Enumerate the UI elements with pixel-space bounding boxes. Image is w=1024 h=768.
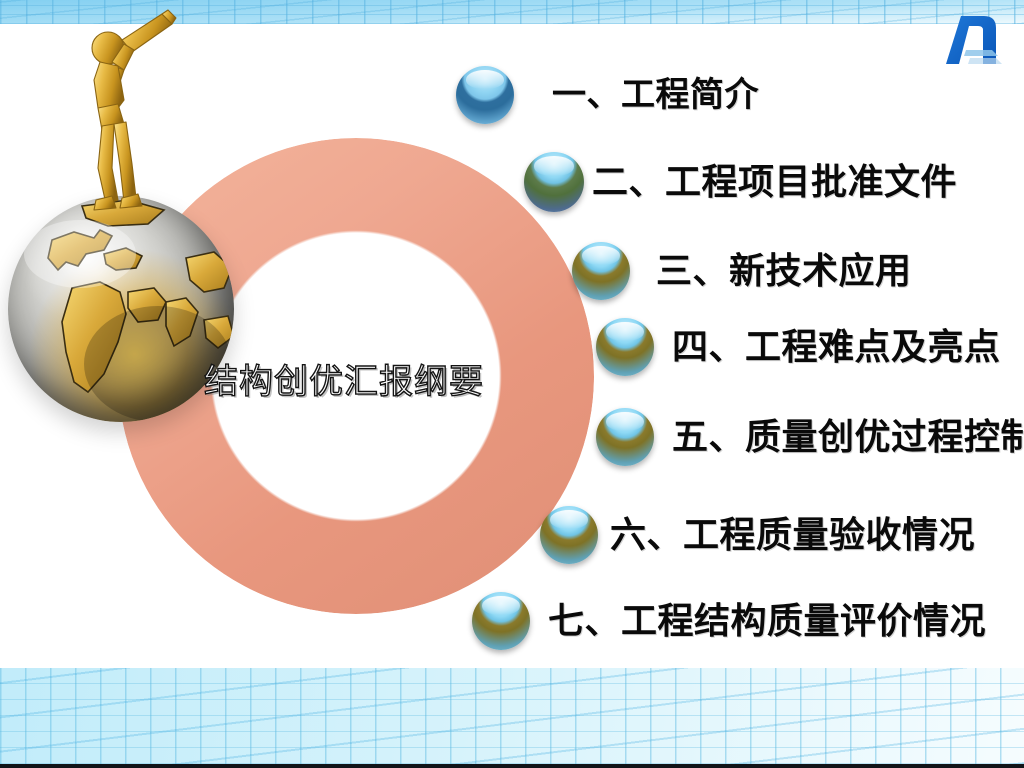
bullet-sphere-6 xyxy=(540,506,598,564)
outline-item-2-label: 二、工程项目批准文件 xyxy=(592,164,957,200)
outline-item-4-label: 四、工程难点及亮点 xyxy=(672,329,1001,365)
bottom-grid-band xyxy=(0,668,1024,764)
gold-figure-with-telescope xyxy=(78,4,182,214)
outline-item-6[interactable]: 六、工程质量验收情况 xyxy=(540,506,975,564)
bullet-sphere-7 xyxy=(472,592,530,650)
bottom-grid-band-diagonals xyxy=(0,668,1024,764)
bullet-sphere-5 xyxy=(596,408,654,466)
logo-icon xyxy=(936,6,1010,70)
page-title: 结构创优汇报纲要 xyxy=(204,366,534,400)
presentation-slide: 结构创优汇报纲要 一、工程简介 二、工程项目批准文件 三、新技 xyxy=(0,0,1024,768)
bullet-sphere-4 xyxy=(596,318,654,376)
bullet-sphere-2 xyxy=(524,152,584,212)
outline-item-7[interactable]: 七、工程结构质量评价情况 xyxy=(472,592,986,650)
bullet-sphere-3 xyxy=(572,242,630,300)
globe-continents-icon xyxy=(8,196,234,422)
outline-item-5-label: 五、质量创优过程控制 xyxy=(672,419,1024,455)
telescope-figure-icon xyxy=(78,4,182,214)
outline-item-5[interactable]: 五、质量创优过程控制 xyxy=(596,408,1024,466)
outline-item-1[interactable]: 一、工程简介 xyxy=(456,66,759,124)
gold-silver-globe xyxy=(8,196,234,422)
company-a-logo xyxy=(936,6,1010,70)
bullet-sphere-1 xyxy=(456,66,514,124)
outline-item-4[interactable]: 四、工程难点及亮点 xyxy=(596,318,1001,376)
outline-item-3-label: 三、新技术应用 xyxy=(656,253,912,289)
outline-item-2[interactable]: 二、工程项目批准文件 xyxy=(524,152,957,212)
outline-item-6-label: 六、工程质量验收情况 xyxy=(610,517,975,553)
outline-item-3[interactable]: 三、新技术应用 xyxy=(572,242,912,300)
bottom-edge-strip xyxy=(0,764,1024,768)
outline-item-7-label: 七、工程结构质量评价情况 xyxy=(548,603,986,639)
outline-item-1-label: 一、工程简介 xyxy=(552,78,759,112)
